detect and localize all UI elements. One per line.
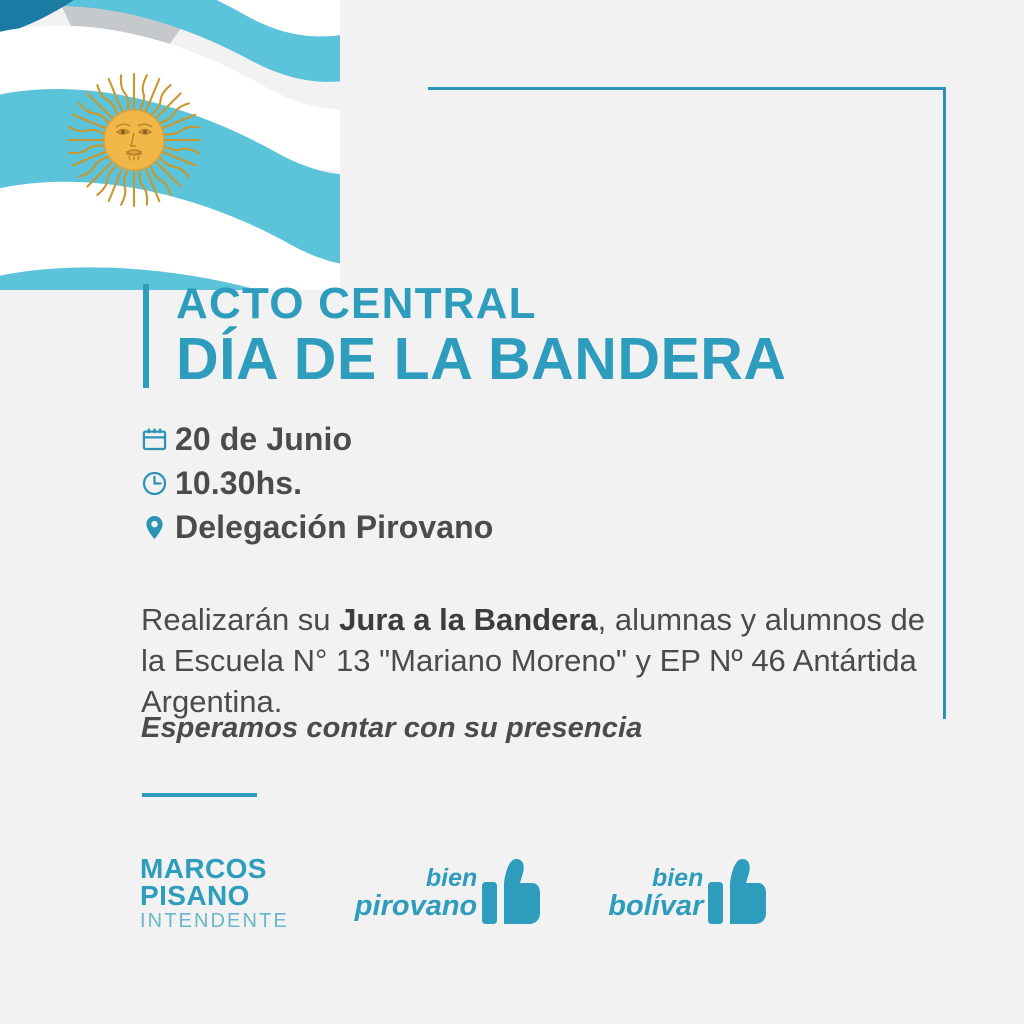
ribbon-dark-curl bbox=[0, 0, 160, 48]
frame-line-top bbox=[428, 87, 946, 90]
closing-line: Esperamos contar con su presencia bbox=[141, 712, 642, 745]
logo-pisano-line2: PISANO bbox=[140, 882, 289, 909]
clock-icon bbox=[141, 470, 175, 497]
logo-bolivar-word2: bolívar bbox=[608, 892, 703, 921]
detail-label-date: 20 de Junio bbox=[175, 421, 352, 458]
footer-divider bbox=[142, 793, 257, 797]
logo-bolivar-word1: bien bbox=[608, 866, 703, 891]
headline-block: ACTO CENTRAL DÍA DE LA BANDERA bbox=[143, 282, 787, 389]
sun-disc bbox=[104, 110, 164, 170]
logo-bien-bolivar: bien bolívar bbox=[608, 856, 766, 931]
br-ribbon-white-band-top bbox=[554, 988, 1024, 1024]
bien-thumb-icon bbox=[482, 856, 540, 931]
poster-canvas: ACTO CENTRAL DÍA DE LA BANDERA 20 de Jun… bbox=[0, 0, 1024, 1024]
headline-kicker: ACTO CENTRAL bbox=[176, 282, 787, 327]
ribbon-blue-band-2 bbox=[0, 89, 500, 266]
logo-pisano-line1: MARCOS bbox=[140, 855, 289, 882]
ribbon-white-band-top bbox=[0, 0, 470, 36]
logo-pirovano-word1: bien bbox=[355, 866, 477, 891]
body-paragraph: Realizarán su Jura a la Bandera, alumnas… bbox=[141, 599, 931, 723]
page-title: DÍA DE LA BANDERA bbox=[176, 329, 787, 389]
body-part-1: Realizarán su bbox=[141, 602, 339, 637]
bien-thumb-icon bbox=[708, 856, 766, 931]
logo-pirovano-word2: pirovano bbox=[355, 892, 477, 921]
event-details-list: 20 de Junio 10.30hs. Delegación Pirovano bbox=[141, 418, 493, 550]
ribbon-blue-band-1 bbox=[0, 0, 480, 82]
detail-label-time: 10.30hs. bbox=[175, 465, 302, 502]
location-pin-icon bbox=[141, 514, 175, 541]
detail-label-location: Delegación Pirovano bbox=[175, 509, 493, 546]
logo-marcos-pisano: MARCOS PISANO INTENDENTE bbox=[140, 855, 289, 932]
ribbon-shadow-wedge bbox=[40, 0, 230, 120]
ribbon-white-band-lower bbox=[0, 26, 490, 171]
br-ribbon-blue-band-1 bbox=[544, 942, 1024, 1024]
logo-bien-pirovano: bien pirovano bbox=[355, 856, 540, 931]
frame-line-right bbox=[943, 87, 946, 719]
logo-strip: MARCOS PISANO INTENDENTE bien pirovano b… bbox=[140, 855, 766, 932]
sol-de-mayo-icon bbox=[68, 74, 200, 206]
headline-accent-bar bbox=[143, 284, 149, 388]
detail-row-location: Delegación Pirovano bbox=[141, 506, 493, 548]
body-highlight: Jura a la Bandera bbox=[339, 602, 597, 637]
br-ribbon-shadow-wedge bbox=[794, 904, 984, 1024]
br-ribbon-dark-curl bbox=[864, 976, 1024, 1024]
calendar-icon bbox=[141, 426, 175, 453]
detail-row-date: 20 de Junio bbox=[141, 418, 493, 460]
detail-row-time: 10.30hs. bbox=[141, 462, 493, 504]
sun-face bbox=[116, 124, 152, 160]
logo-pisano-line3: INTENDENTE bbox=[140, 912, 289, 931]
